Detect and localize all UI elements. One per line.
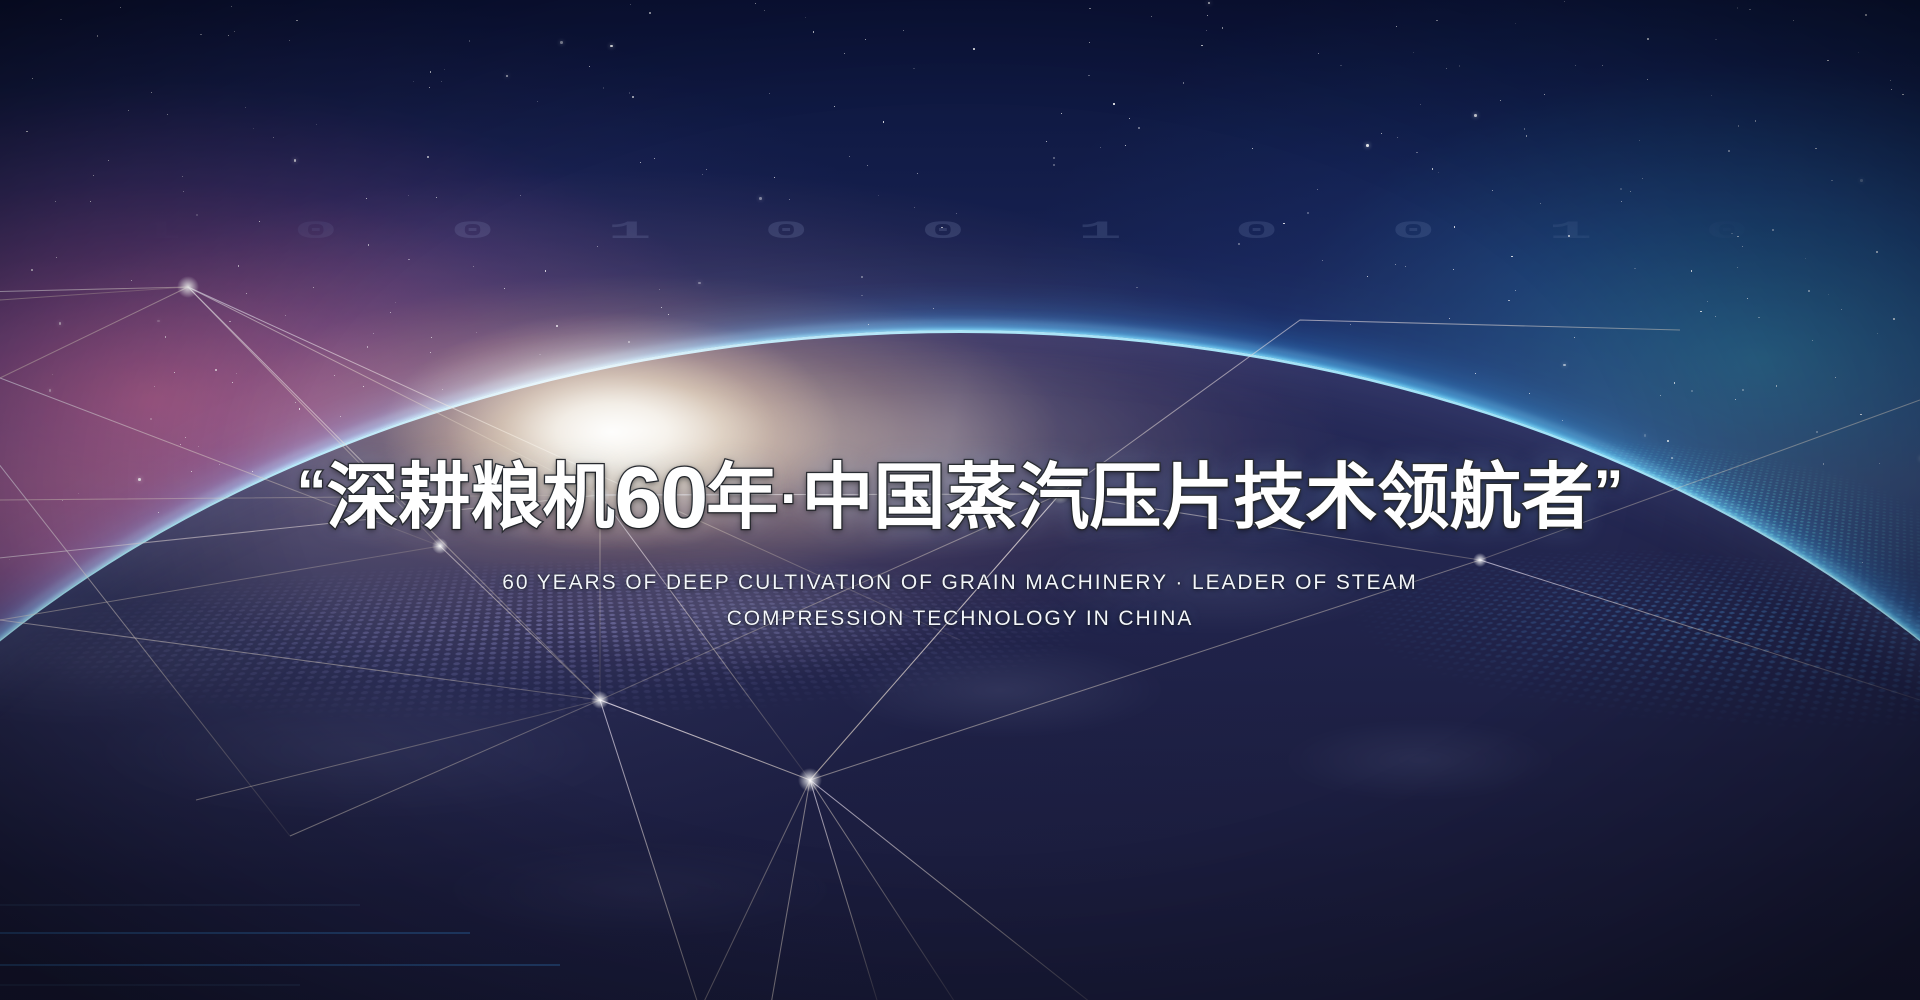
headline-year-char: 年 <box>706 458 778 538</box>
subtitle-line-1: 60 YEARS OF DEEP CULTIVATION OF GRAIN MA… <box>0 571 1920 595</box>
close-quote-mark: ” <box>1594 458 1624 525</box>
headline-part-one: 深耕粮机 <box>326 458 614 538</box>
open-quote-mark: “ <box>296 458 326 525</box>
headline-separator: · <box>778 466 801 531</box>
headline-number: 60 <box>614 450 706 546</box>
subtitle-line-2: COMPRESSION TECHNOLOGY IN CHINA <box>0 607 1920 631</box>
hero-text-block: “深耕粮机60年·中国蒸汽压片技术领航者” 60 YEARS OF DEEP C… <box>0 455 1920 631</box>
banner-hero: 1 0 0 1 0 0 1 0 0 1 0 <box>0 0 1920 1000</box>
headline-part-two: 中国蒸汽压片技术领航者 <box>802 458 1594 538</box>
page-title: “深耕粮机60年·中国蒸汽压片技术领航者” <box>0 455 1920 541</box>
